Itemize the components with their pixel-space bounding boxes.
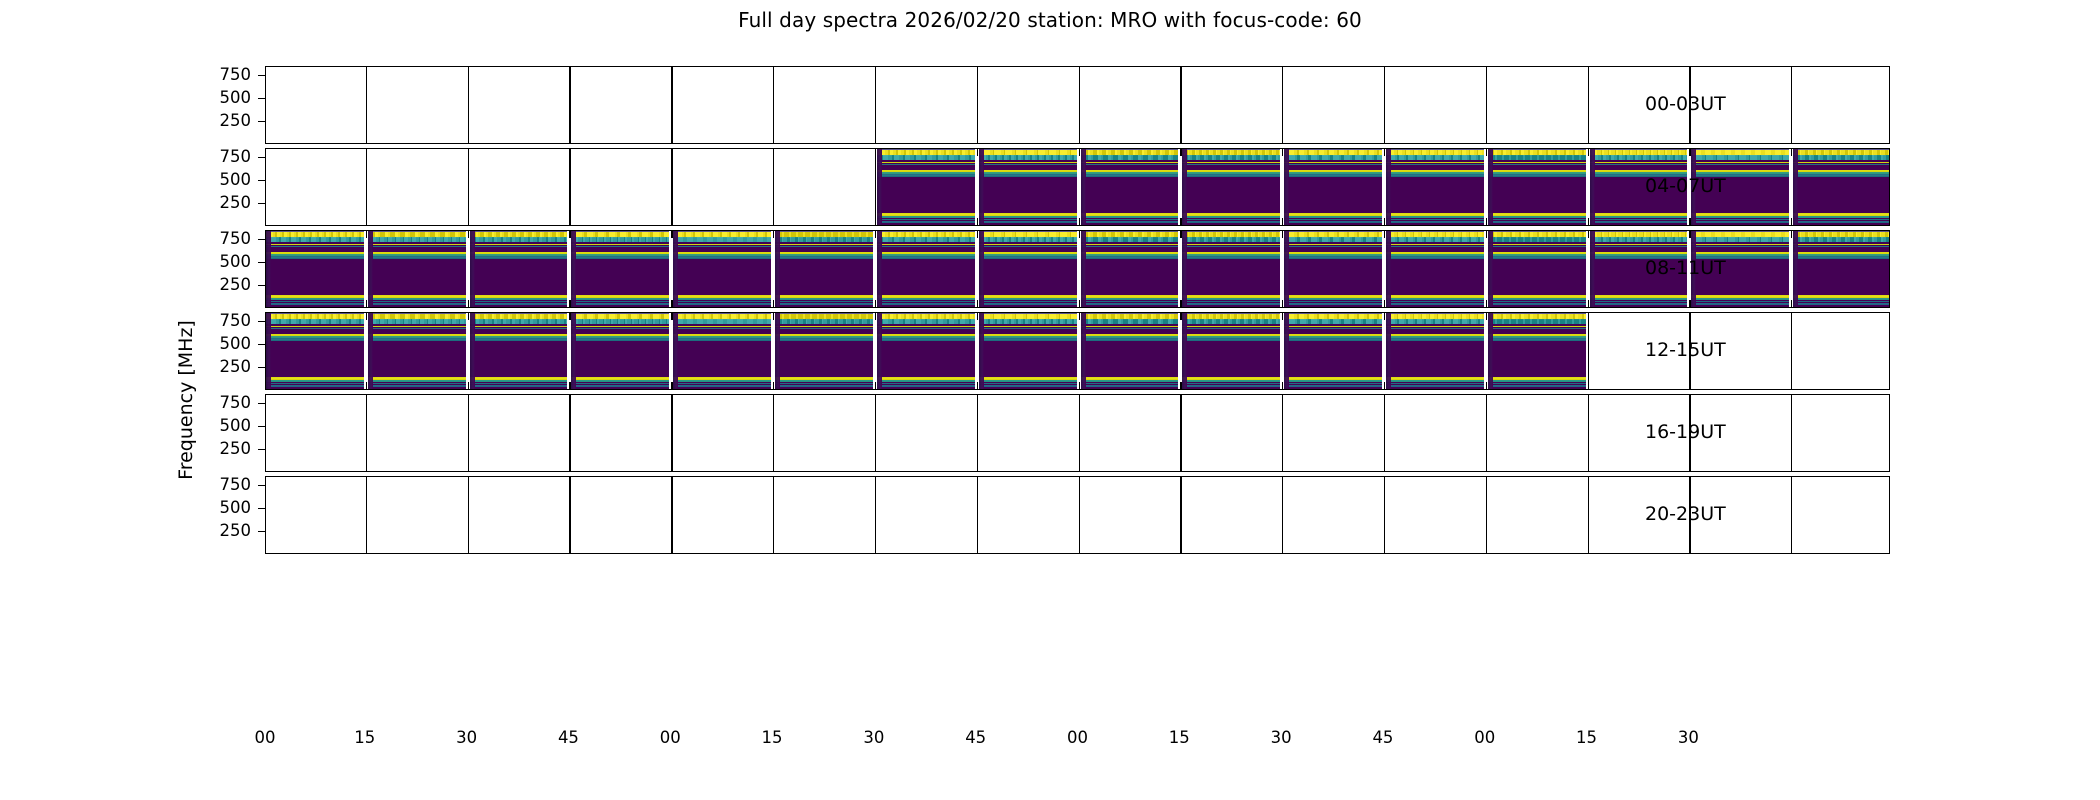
panel-left-edge	[775, 231, 780, 307]
spectrogram-panel-empty	[979, 67, 1077, 143]
spectrogram-panel	[1386, 149, 1484, 225]
spectrogram-panel-empty	[1081, 67, 1179, 143]
x-tick	[671, 464, 672, 471]
x-tick	[1079, 546, 1080, 553]
spectrogram-panel	[1793, 149, 1890, 225]
y-tick	[258, 239, 265, 240]
panel-left-edge	[1284, 231, 1289, 307]
x-tick	[875, 395, 876, 402]
y-tick	[258, 531, 265, 532]
column-separator	[1384, 395, 1385, 471]
x-tick	[1486, 300, 1487, 307]
spectrogram-panel	[1182, 231, 1280, 307]
spectrogram-cell	[877, 313, 975, 389]
spectrogram-panel	[266, 313, 364, 389]
x-tick	[1180, 149, 1181, 156]
column-separator	[977, 395, 978, 471]
spectrogram-panel	[368, 313, 466, 389]
spectrogram-cell	[266, 231, 364, 307]
spectrogram-cell	[1081, 313, 1179, 389]
spectrogram-panel	[1081, 231, 1179, 307]
x-tick	[1384, 231, 1385, 238]
x-tick	[366, 395, 367, 402]
x-tick	[1384, 464, 1385, 471]
x-tick-label: 15	[1557, 728, 1617, 747]
spectrogram-cell	[571, 231, 669, 307]
spectrogram-panel	[571, 231, 669, 307]
x-tick	[1588, 218, 1589, 225]
row-label-00-03ut: 00-03UT	[1645, 93, 1726, 115]
spectrogram-cell	[1081, 231, 1179, 307]
panel-left-edge	[470, 231, 475, 307]
x-tick	[1588, 231, 1589, 238]
y-tick	[258, 449, 265, 450]
spectrogram-panel-empty	[775, 67, 873, 143]
panel-left-edge	[1386, 313, 1391, 389]
column-separator	[1282, 395, 1283, 471]
spectrogram-panel-empty	[1081, 395, 1179, 471]
x-tick	[1689, 395, 1690, 402]
x-tick	[1079, 218, 1080, 225]
row-label-16-19ut: 16-19UT	[1645, 421, 1726, 443]
spectrogram-cell	[1488, 313, 1586, 389]
spectrogram-panel-empty	[1284, 67, 1382, 143]
x-tick	[1689, 231, 1690, 238]
x-tick	[671, 395, 672, 402]
x-tick	[1180, 477, 1181, 484]
spectrogram-panel-empty	[1182, 477, 1280, 553]
x-tick	[1486, 218, 1487, 225]
x-tick	[1079, 136, 1080, 143]
x-tick	[977, 395, 978, 402]
y-tick-label: 750	[181, 65, 251, 84]
x-tick	[1384, 395, 1385, 402]
column-separator	[1180, 67, 1181, 143]
x-tick	[1282, 382, 1283, 389]
x-tick	[1689, 546, 1690, 553]
column-separator	[773, 477, 774, 553]
x-tick	[773, 313, 774, 320]
spectrogram-panel-empty	[877, 395, 975, 471]
x-tick	[671, 477, 672, 484]
column-separator	[1384, 67, 1385, 143]
column-separator	[1791, 67, 1792, 143]
column-separator	[1079, 477, 1080, 553]
x-tick	[875, 67, 876, 74]
spectrogram-panel	[368, 231, 466, 307]
spectrogram-panel	[1793, 231, 1890, 307]
y-tick	[258, 75, 265, 76]
spectrogram-panel-empty	[1793, 67, 1890, 143]
x-tick	[569, 136, 570, 143]
x-tick	[773, 464, 774, 471]
spectrogram-panel-empty	[368, 67, 466, 143]
x-tick	[875, 313, 876, 320]
column-separator	[1588, 477, 1589, 553]
panel-left-edge	[1284, 149, 1289, 225]
y-tick	[258, 403, 265, 404]
spectrogram-panel-empty	[571, 477, 669, 553]
column-separator	[569, 477, 570, 553]
spectrogram-panel-empty	[1793, 395, 1890, 471]
x-tick	[1486, 395, 1487, 402]
x-tick	[671, 300, 672, 307]
x-tick	[773, 149, 774, 156]
x-tick	[875, 546, 876, 553]
x-tick	[366, 218, 367, 225]
x-tick	[773, 477, 774, 484]
x-tick	[468, 218, 469, 225]
y-tick-label: 750	[181, 229, 251, 248]
x-tick	[1180, 313, 1181, 320]
panel-left-edge	[1793, 231, 1798, 307]
x-tick	[1079, 382, 1080, 389]
panel-left-edge	[1590, 149, 1595, 225]
x-tick	[1079, 395, 1080, 402]
x-tick	[1486, 136, 1487, 143]
y-tick-label: 250	[181, 357, 251, 376]
spectrogram-cell	[470, 231, 568, 307]
x-tick	[773, 218, 774, 225]
column-separator	[1791, 477, 1792, 553]
x-tick	[1282, 546, 1283, 553]
x-tick	[1791, 218, 1792, 225]
y-tick	[258, 180, 265, 181]
panel-left-edge	[571, 313, 576, 389]
x-tick	[1588, 313, 1589, 320]
spectrogram-panel-empty	[470, 149, 568, 225]
column-separator	[1282, 477, 1283, 553]
x-tick-label: 30	[844, 728, 904, 747]
y-tick	[258, 485, 265, 486]
x-tick	[977, 149, 978, 156]
panel-left-edge	[1386, 231, 1391, 307]
x-tick-label: 45	[538, 728, 598, 747]
spectrogram-panel-empty	[673, 149, 771, 225]
x-tick	[569, 477, 570, 484]
column-separator	[569, 395, 570, 471]
x-tick	[1689, 477, 1690, 484]
column-separator	[875, 67, 876, 143]
column-separator	[773, 395, 774, 471]
x-tick	[1791, 231, 1792, 238]
spectrogram-panel-empty	[571, 149, 669, 225]
panel-left-edge	[673, 231, 678, 307]
x-tick	[671, 382, 672, 389]
x-tick	[1791, 464, 1792, 471]
x-tick	[468, 546, 469, 553]
spectrogram-cell	[1488, 231, 1586, 307]
spectrogram-panel	[1488, 231, 1586, 307]
spectrogram-panel	[673, 313, 771, 389]
spectrogram-panel-empty	[1284, 477, 1382, 553]
x-tick	[569, 382, 570, 389]
spectrogram-panel	[1488, 149, 1586, 225]
row-label-08-11ut: 08-11UT	[1645, 257, 1726, 279]
column-separator	[875, 395, 876, 471]
x-tick	[366, 67, 367, 74]
spectrogram-panel	[877, 313, 975, 389]
x-tick	[366, 313, 367, 320]
x-tick	[977, 136, 978, 143]
x-tick	[671, 136, 672, 143]
spectrogram-panel	[1488, 313, 1586, 389]
spectrogram-panel-empty	[1182, 67, 1280, 143]
spectrogram-panel-empty	[1488, 477, 1586, 553]
x-tick	[1689, 382, 1690, 389]
y-tick-label: 750	[181, 393, 251, 412]
x-tick	[1486, 464, 1487, 471]
panel-left-edge	[979, 231, 984, 307]
x-tick	[977, 382, 978, 389]
panel-left-edge	[1081, 313, 1086, 389]
x-tick	[1791, 395, 1792, 402]
x-tick	[875, 149, 876, 156]
column-separator	[1180, 477, 1181, 553]
y-tick-label: 500	[181, 88, 251, 107]
spectrogram-panel	[1386, 231, 1484, 307]
x-tick	[468, 136, 469, 143]
x-tick-label: 30	[1658, 728, 1718, 747]
x-tick	[1791, 477, 1792, 484]
column-separator	[671, 149, 672, 225]
x-tick	[1588, 382, 1589, 389]
x-tick	[1384, 136, 1385, 143]
y-tick-label: 250	[181, 275, 251, 294]
y-tick-label: 250	[181, 439, 251, 458]
spectrogram-panel-empty	[368, 477, 466, 553]
x-tick	[773, 546, 774, 553]
y-tick-label: 250	[181, 193, 251, 212]
column-separator	[468, 67, 469, 143]
spectrogram-panel-empty	[877, 67, 975, 143]
x-tick	[875, 300, 876, 307]
x-tick	[977, 313, 978, 320]
x-tick	[1486, 382, 1487, 389]
spectrogram-panel-empty	[979, 395, 1077, 471]
y-tick	[258, 98, 265, 99]
column-separator	[671, 67, 672, 143]
column-separator	[1282, 67, 1283, 143]
row-label-04-07ut: 04-07UT	[1645, 175, 1726, 197]
x-tick-label: 30	[437, 728, 497, 747]
column-separator	[1791, 313, 1792, 389]
x-tick-label: 45	[1353, 728, 1413, 747]
spectrogram-panel	[1284, 313, 1382, 389]
column-separator	[875, 477, 876, 553]
x-tick	[468, 149, 469, 156]
x-tick	[671, 231, 672, 238]
column-separator	[366, 67, 367, 143]
x-tick	[1588, 464, 1589, 471]
spectrogram-panel-empty	[571, 395, 669, 471]
x-tick	[1180, 67, 1181, 74]
column-separator	[366, 477, 367, 553]
x-tick	[1180, 231, 1181, 238]
spectrogram-cell	[470, 313, 568, 389]
x-tick	[1282, 231, 1283, 238]
spectrogram-panel	[877, 149, 975, 225]
x-tick	[977, 300, 978, 307]
x-tick	[1079, 67, 1080, 74]
y-tick	[258, 367, 265, 368]
spectrogram-panel	[1182, 149, 1280, 225]
spectrogram-panel-empty	[470, 477, 568, 553]
spectrogram-panel-empty	[1386, 67, 1484, 143]
x-tick	[1689, 149, 1690, 156]
spectrogram-cell	[979, 231, 1077, 307]
spectrogram-panel	[470, 313, 568, 389]
spectrogram-cell	[1182, 313, 1280, 389]
spectrogram-cell	[775, 231, 873, 307]
spectrogram-panel-empty	[1386, 477, 1484, 553]
spectrogram-cell	[571, 313, 669, 389]
panel-left-edge	[877, 149, 882, 225]
x-tick	[1588, 395, 1589, 402]
x-tick	[1689, 300, 1690, 307]
spectrogram-cell	[1488, 149, 1586, 225]
spectrogram-panel-empty	[673, 477, 771, 553]
x-tick	[1486, 67, 1487, 74]
spectrogram-panel-empty	[266, 477, 364, 553]
spectrogram-panel-empty	[266, 149, 364, 225]
column-separator	[773, 149, 774, 225]
column-separator	[468, 395, 469, 471]
spectrogram-cell	[1386, 231, 1484, 307]
panel-left-edge	[1182, 149, 1187, 225]
column-separator	[1588, 67, 1589, 143]
panel-left-edge	[1284, 313, 1289, 389]
y-tick-label: 500	[181, 334, 251, 353]
y-tick	[258, 426, 265, 427]
x-tick	[773, 382, 774, 389]
panel-left-edge	[673, 313, 678, 389]
x-tick	[1180, 218, 1181, 225]
figure-title: Full day spectra 2026/02/20 station: MRO…	[0, 8, 2100, 32]
panel-left-edge	[979, 149, 984, 225]
spectrogram-panel-empty	[266, 395, 364, 471]
spectrogram-cell	[1793, 149, 1890, 225]
y-tick-label: 250	[181, 521, 251, 540]
x-tick-label: 00	[1455, 728, 1515, 747]
x-tick	[1588, 546, 1589, 553]
spectrogram-figure: Full day spectra 2026/02/20 station: MRO…	[0, 0, 2100, 800]
x-tick	[1180, 464, 1181, 471]
x-tick	[977, 218, 978, 225]
x-tick	[569, 149, 570, 156]
spectrogram-panel	[979, 313, 1077, 389]
y-tick	[258, 321, 265, 322]
x-tick	[1180, 300, 1181, 307]
panel-left-edge	[1793, 149, 1798, 225]
spectrogram-panel-empty	[775, 395, 873, 471]
x-tick	[875, 477, 876, 484]
x-tick	[1384, 546, 1385, 553]
column-separator	[1384, 477, 1385, 553]
x-tick	[671, 313, 672, 320]
column-separator	[1180, 395, 1181, 471]
spectrogram-cell	[266, 313, 364, 389]
x-tick	[1180, 546, 1181, 553]
x-tick	[875, 231, 876, 238]
x-tick	[1079, 477, 1080, 484]
column-separator	[1486, 395, 1487, 471]
x-tick	[1079, 300, 1080, 307]
x-tick	[1282, 313, 1283, 320]
x-tick	[1180, 395, 1181, 402]
x-tick	[569, 395, 570, 402]
panel-left-edge	[470, 313, 475, 389]
x-tick	[366, 149, 367, 156]
spectrogram-cell	[1284, 313, 1382, 389]
spectrogram-cell	[368, 313, 466, 389]
x-tick	[1689, 218, 1690, 225]
x-tick	[1282, 477, 1283, 484]
x-tick	[1282, 395, 1283, 402]
x-tick	[569, 313, 570, 320]
spectrogram-panel	[877, 231, 975, 307]
column-separator	[875, 149, 876, 225]
x-tick	[1282, 136, 1283, 143]
x-tick	[366, 464, 367, 471]
x-tick	[569, 67, 570, 74]
panel-left-edge	[979, 313, 984, 389]
x-tick	[569, 218, 570, 225]
panel-left-edge	[1182, 313, 1187, 389]
spectrogram-cell	[877, 149, 975, 225]
column-separator	[977, 67, 978, 143]
x-tick	[1791, 67, 1792, 74]
y-tick	[258, 285, 265, 286]
x-tick	[1588, 136, 1589, 143]
x-tick	[1791, 382, 1792, 389]
panel-left-edge	[1488, 313, 1493, 389]
x-tick	[1689, 313, 1690, 320]
column-separator	[1791, 395, 1792, 471]
panel-left-edge	[368, 231, 373, 307]
x-tick	[773, 67, 774, 74]
x-tick	[1282, 149, 1283, 156]
spectrogram-cell	[775, 313, 873, 389]
y-tick	[258, 344, 265, 345]
x-tick	[1180, 136, 1181, 143]
x-tick	[1384, 300, 1385, 307]
x-tick	[468, 382, 469, 389]
x-tick	[569, 300, 570, 307]
x-tick	[468, 67, 469, 74]
y-tick	[258, 203, 265, 204]
spectrogram-panel-empty	[368, 149, 466, 225]
spectrogram-panel-empty	[1386, 395, 1484, 471]
x-tick	[1180, 382, 1181, 389]
x-tick	[1486, 231, 1487, 238]
x-tick	[366, 300, 367, 307]
spectrogram-cell	[1081, 149, 1179, 225]
x-tick	[569, 231, 570, 238]
spectrogram-panel-empty	[571, 67, 669, 143]
x-tick	[977, 464, 978, 471]
x-tick	[1486, 477, 1487, 484]
x-tick-label: 00	[1048, 728, 1108, 747]
y-tick-label: 250	[181, 111, 251, 130]
panel-left-edge	[1081, 149, 1086, 225]
x-tick	[977, 546, 978, 553]
spectrogram-panel	[775, 313, 873, 389]
spectrogram-panel-empty	[673, 67, 771, 143]
x-tick	[671, 67, 672, 74]
spectrogram-cell	[673, 231, 771, 307]
x-tick	[875, 218, 876, 225]
